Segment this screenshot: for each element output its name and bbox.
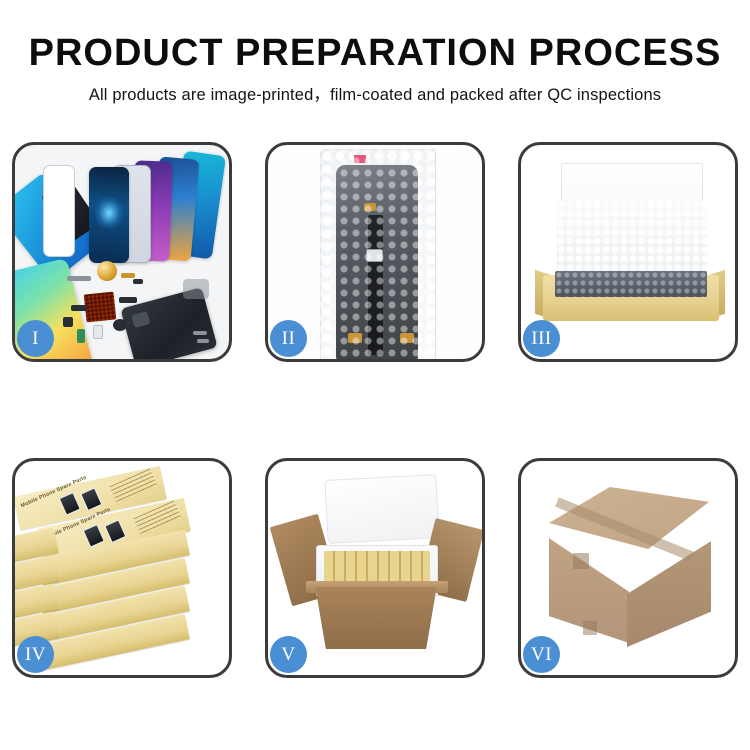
part-flex-icon <box>71 305 87 311</box>
flex-cable-icon <box>368 215 383 355</box>
part-white-icon <box>93 325 103 339</box>
foam-lining-icon <box>557 201 707 281</box>
page-header: PRODUCT PREPARATION PROCESS All products… <box>0 0 750 108</box>
part-square-icon <box>63 317 73 327</box>
process-step-4[interactable]: Mobile Phone Spare Parts Mobile Phone Sp… <box>12 458 232 678</box>
step-badge-4: IV <box>17 636 54 673</box>
step-badge-1: I <box>17 320 54 357</box>
step-badge-5: V <box>270 636 307 673</box>
process-step-3[interactable]: III <box>518 142 738 362</box>
connector-left-icon <box>348 333 362 343</box>
part-gold-icon <box>121 273 135 278</box>
step-badge-2: II <box>270 320 307 357</box>
speaker-coil-icon <box>97 261 117 281</box>
step-badge-3: III <box>523 320 560 357</box>
process-step-grid: I II <box>12 142 738 722</box>
page-title: PRODUCT PREPARATION PROCESS <box>0 30 750 76</box>
process-step-6[interactable]: VI <box>518 458 738 678</box>
qc-label-icon <box>354 155 366 163</box>
tempered-glass-icon <box>43 165 75 257</box>
connector-top-icon <box>364 203 376 211</box>
part-strip2-icon <box>119 297 137 303</box>
product-preparation-page: PRODUCT PREPARATION PROCESS All products… <box>0 0 750 750</box>
connector-right-icon <box>400 333 414 343</box>
wrapped-item-icon <box>555 271 707 297</box>
process-step-2[interactable]: II <box>265 142 485 362</box>
phone-lineup-icon <box>81 151 229 266</box>
part-strip-icon <box>67 276 91 281</box>
carton-top-face-icon <box>549 487 709 549</box>
part-round-icon <box>113 319 127 331</box>
driver-ic-icon <box>366 249 383 262</box>
part-small-icon <box>133 279 143 284</box>
step-badge-6: VI <box>523 636 560 673</box>
part-green-icon <box>77 329 85 343</box>
carton-front-icon <box>310 587 442 649</box>
process-step-5[interactable]: V <box>265 458 485 678</box>
carton-tab-upper-icon <box>573 553 589 569</box>
tool-kit-icon <box>183 279 209 299</box>
connector-chip-icon <box>84 292 117 323</box>
part-screw-icon <box>193 331 207 335</box>
foam-lid-icon <box>324 474 439 544</box>
page-subtitle: All products are image-printed，film-coat… <box>0 82 750 108</box>
part-screw2-icon <box>197 339 209 343</box>
process-step-1[interactable]: I <box>12 142 232 362</box>
carton-tab-lower-icon <box>583 621 597 635</box>
